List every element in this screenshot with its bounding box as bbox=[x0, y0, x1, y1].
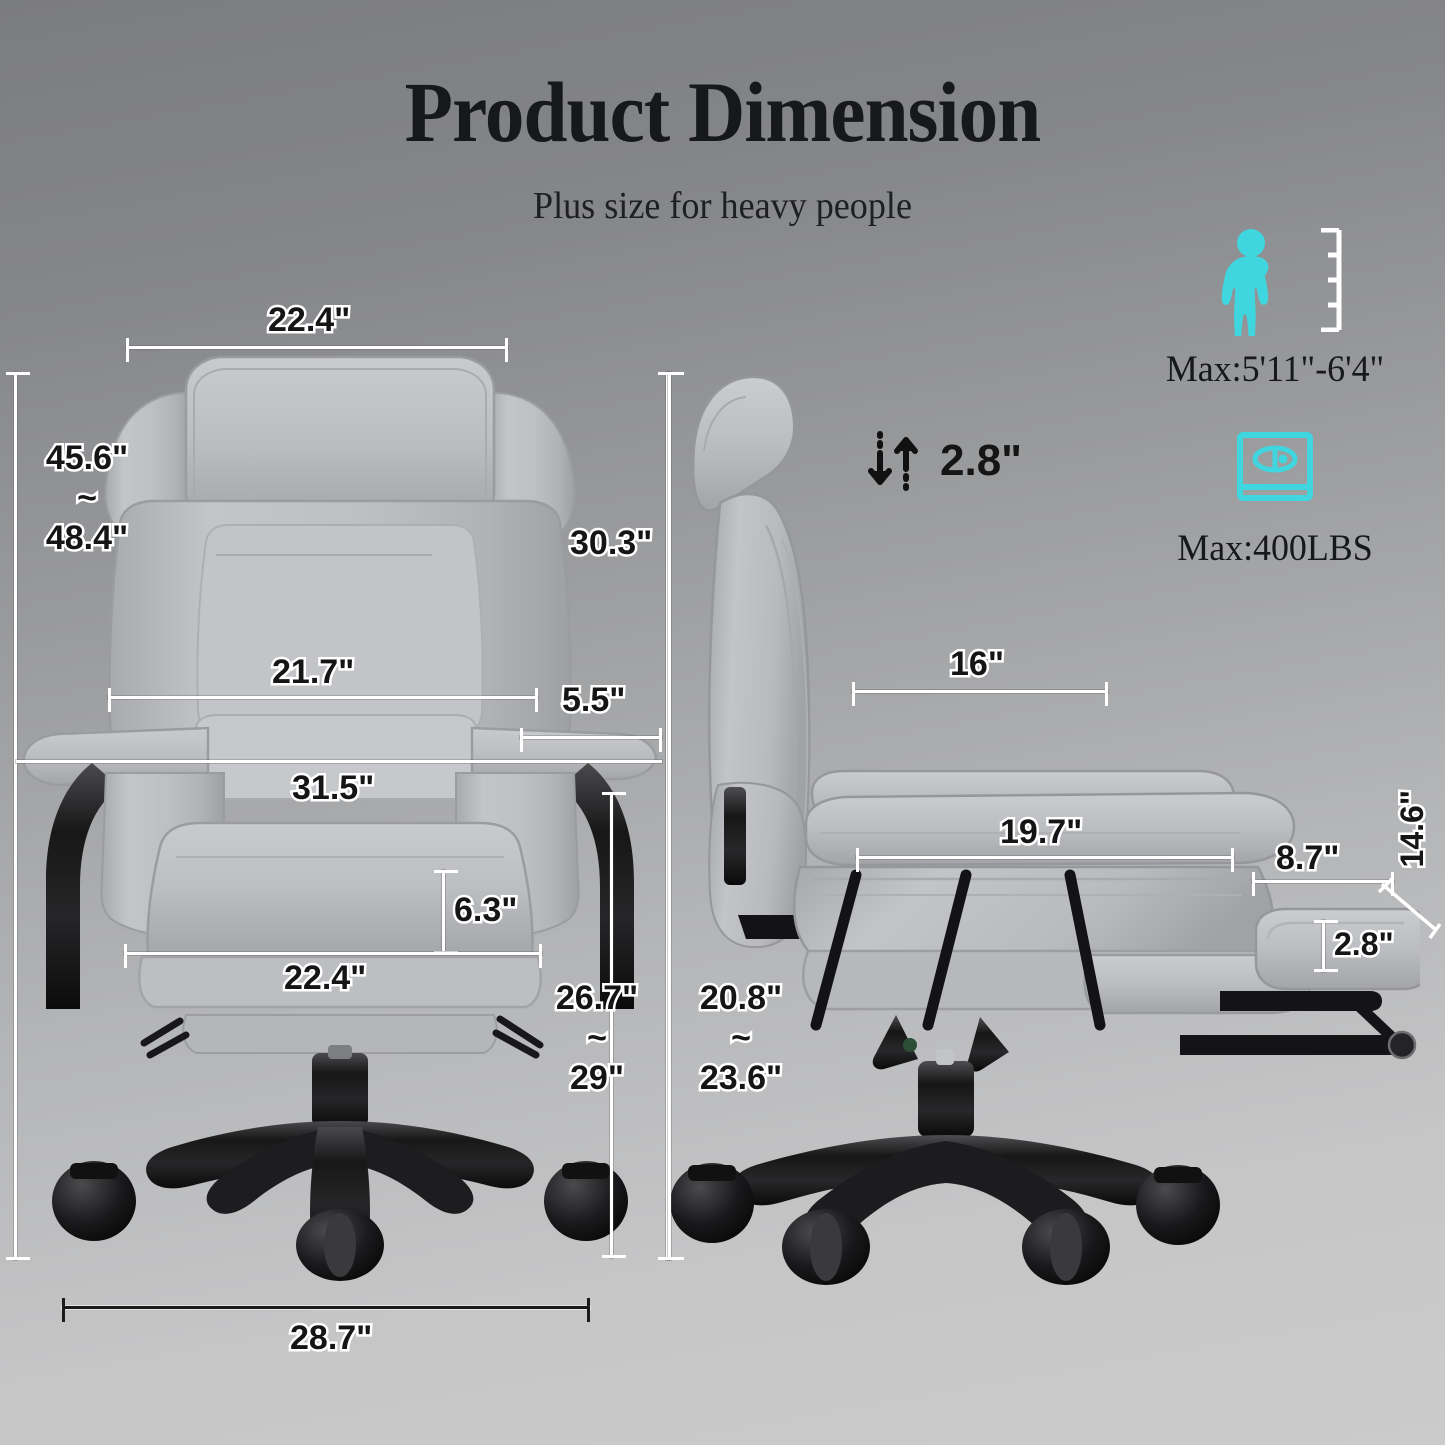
page-title: Product Dimension bbox=[58, 62, 1387, 162]
dim-seat-width: 22.4" bbox=[284, 958, 366, 998]
dim-total-height-max: 45.6" bbox=[22, 438, 152, 478]
dim-footrest-depth: 8.7" bbox=[1276, 838, 1339, 878]
dimline-footrest-thickness bbox=[1322, 920, 1325, 972]
dimline-overall-width-arms bbox=[16, 760, 662, 763]
dimline-seat-thickness bbox=[442, 870, 445, 954]
dim-seat-back-width: 21.7" bbox=[272, 652, 354, 692]
dim-seat-top-depth: 16" bbox=[950, 644, 1004, 684]
dim-seat-height-front-min: 29" bbox=[532, 1058, 662, 1098]
dimline-armrest-width bbox=[520, 736, 662, 739]
dim-seat-height-front-tilde: ~ bbox=[532, 1018, 662, 1058]
dim-base-width: 28.7" bbox=[290, 1318, 372, 1358]
dimline-base-width bbox=[62, 1306, 590, 1309]
dimline-total-height bbox=[14, 372, 17, 1260]
dim-footrest-extension: 14.6" bbox=[1394, 790, 1432, 867]
dim-total-height: 45.6" ~ 48.4" bbox=[22, 438, 152, 558]
dim-seat-height-front-max: 26.7" bbox=[532, 978, 662, 1018]
dim-recline-adjust: 2.8" bbox=[940, 435, 1022, 487]
dim-seat-depth: 19.7" bbox=[1000, 812, 1082, 852]
dimline-backrest-width bbox=[126, 346, 508, 349]
dim-seat-height-side-min: 23.6" bbox=[676, 1058, 806, 1098]
dim-seat-height-side-tilde: ~ bbox=[676, 1018, 806, 1058]
dim-seat-thickness: 6.3" bbox=[454, 890, 517, 930]
dim-seat-height-side: 20.8" ~ 23.6" bbox=[676, 978, 806, 1098]
page-subtitle: Plus size for heavy people bbox=[36, 184, 1409, 228]
dimline-seat-top-depth bbox=[852, 690, 1108, 693]
up-down-arrows-icon bbox=[866, 428, 930, 494]
dim-armrest-width: 5.5" bbox=[562, 680, 625, 720]
dimline-seat-height-side bbox=[668, 372, 671, 1260]
heavy-person-icon bbox=[1207, 228, 1299, 336]
header: Product Dimension Plus size for heavy pe… bbox=[0, 0, 1445, 228]
dim-total-height-min: 48.4" bbox=[22, 518, 152, 558]
dim-backrest-width: 22.4" bbox=[268, 300, 350, 340]
dim-seat-height-side-max: 20.8" bbox=[676, 978, 806, 1018]
recline-adjust-group: 2.8" bbox=[866, 428, 1022, 494]
dimline-seat-back-width bbox=[108, 696, 538, 699]
dim-footrest-thickness: 2.8" bbox=[1334, 926, 1394, 964]
height-scale-icon bbox=[1313, 228, 1343, 332]
dim-seat-height-front: 26.7" ~ 29" bbox=[532, 978, 662, 1098]
dim-back-height: 30.3" bbox=[570, 523, 652, 563]
dim-overall-width-arms: 31.5" bbox=[292, 768, 374, 808]
dimline-seat-depth bbox=[856, 856, 1234, 859]
dimline-seat-width bbox=[124, 952, 542, 955]
dimline-footrest-depth bbox=[1252, 880, 1394, 883]
height-icon-row bbox=[1125, 228, 1425, 338]
dim-total-height-tilde: ~ bbox=[22, 478, 152, 518]
